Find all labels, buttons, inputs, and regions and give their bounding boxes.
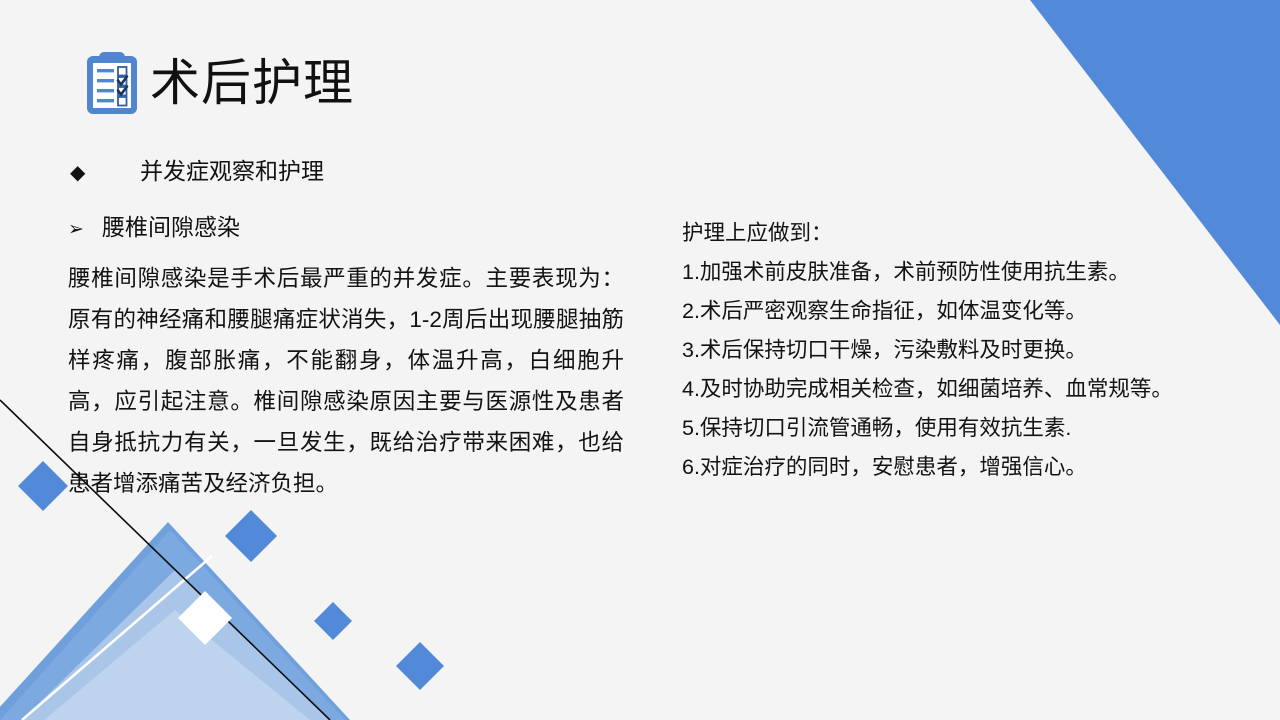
- diamond-small-mid: [314, 602, 352, 640]
- outer-blue-triangle: [0, 522, 350, 720]
- diamond-bullet-icon: ◆: [70, 160, 140, 185]
- slide-canvas: 术后护理 ◆ 并发症观察和护理 ➢ 腰椎间隙感染 腰椎间隙感染是手术后最严重的并…: [0, 0, 1280, 720]
- bullet-sub-label: 腰椎间隙感染: [102, 208, 240, 242]
- diamond-upper-mid: [225, 510, 277, 562]
- mid-blue-triangle: [0, 530, 345, 720]
- list-item: 4.及时协助完成相关检查，如细菌培养、血常规等。: [682, 370, 1242, 409]
- inner-light-triangle: [22, 570, 330, 720]
- left-body-paragraph: 腰椎间隙感染是手术后最严重的并发症。主要表现为：原有的神经痛和腰腿痛症状消失，1…: [68, 258, 624, 504]
- page-title: 术后护理: [150, 58, 354, 108]
- bullet-main-label: 并发症观察和护理: [140, 152, 324, 186]
- list-item: 5.保持切口引流管通畅，使用有效抗生素.: [682, 409, 1242, 448]
- white-diagonal-line: [22, 556, 212, 720]
- list-item: 2.术后严密观察生命指征，如体温变化等。: [682, 292, 1242, 331]
- bullet-main: ◆ 并发症观察和护理: [70, 152, 324, 186]
- list-item: 1.加强术前皮肤准备，术前预防性使用抗生素。: [682, 253, 1242, 292]
- slide-header: 术后护理: [84, 50, 354, 116]
- diamond-small-left: [18, 461, 68, 511]
- right-column-heading: 护理上应做到：: [682, 214, 1242, 253]
- diamond-lower-right: [396, 642, 444, 690]
- list-item: 3.术后保持切口干燥，污染敷料及时更换。: [682, 331, 1242, 370]
- arrow-bullet-icon: ➢: [68, 218, 102, 241]
- innermost-light-triangle: [44, 610, 310, 720]
- list-item: 6.对症治疗的同时，安慰患者，增强信心。: [682, 448, 1242, 487]
- right-column: 护理上应做到： 1.加强术前皮肤准备，术前预防性使用抗生素。 2.术后严密观察生…: [682, 214, 1242, 487]
- clipboard-checklist-icon: [84, 50, 140, 116]
- bullet-sub: ➢ 腰椎间隙感染: [68, 208, 240, 242]
- white-diamond-accent: [178, 591, 232, 645]
